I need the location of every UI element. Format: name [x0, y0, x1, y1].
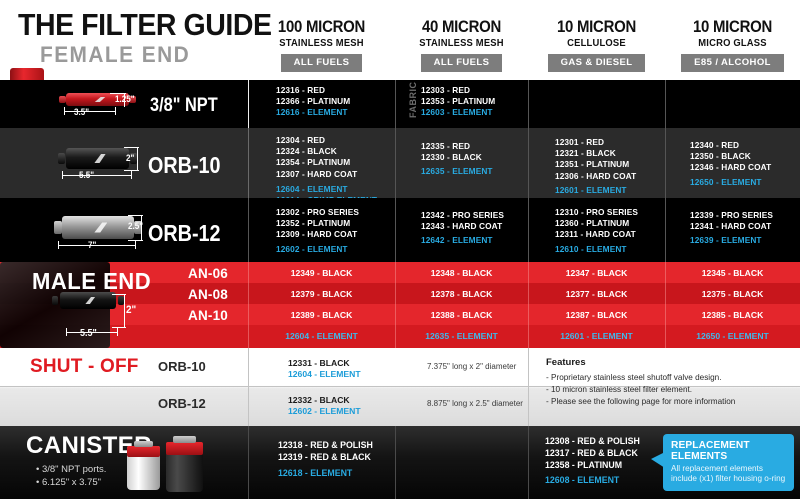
- cell-orb-10-40-micron: 12335 - RED 12330 - BLACK 12635 - ELEMEN…: [421, 128, 493, 198]
- canister-bullet: • 6.125" x 3.75": [36, 476, 101, 489]
- row-spec-label: 3/8" NPT: [150, 95, 218, 117]
- fabric-tag-label: FABRIC: [408, 82, 418, 119]
- table-row-orb-12: 7" 2.5" ORB-12 12302 - PRO SERIES 12352 …: [0, 198, 800, 262]
- canister-image-polish: [127, 446, 160, 490]
- filter-image-orb-12: [62, 216, 134, 239]
- column-fuel-badge: ALL FUELS: [281, 54, 363, 72]
- column-micron-label: 100 MICRON: [257, 18, 386, 35]
- dimension-tick: [115, 107, 116, 115]
- column-fuel-badge: E85 / ALCOHOL: [681, 54, 784, 72]
- row-spec-label-shutoff-orb-12: ORB-12: [158, 397, 206, 410]
- cell-an-08-100-micron: 12379 - BLACK: [248, 290, 395, 299]
- feature-item: - 10 micron stainless steel filter eleme…: [546, 384, 692, 395]
- cell-an-10-40-micron: 12388 - BLACK: [395, 311, 528, 320]
- column-fuel-badge: GAS & DIESEL: [548, 54, 646, 72]
- dimension-diameter-label: 2": [126, 304, 136, 316]
- column-header-40-micron: 40 MICRON STAINLESS MESH ALL FUELS: [395, 18, 528, 72]
- page-header: THE FILTER GUIDE FEMALE END 100 MICRON S…: [0, 0, 800, 80]
- filter-image-male-end: [60, 292, 116, 309]
- cell-orb-10-10-micron-micro-glass: 12340 - RED 12350 - BLACK 12346 - HARD C…: [690, 128, 771, 198]
- cell-orb-10-10-micron-cellulose: 12301 - RED 12321 - BLACK 12351 - PLATIN…: [555, 128, 636, 198]
- cell-an-06-10-micron-micro-glass: 12345 - BLACK: [665, 269, 800, 278]
- cell-an-06-10-micron-cellulose: 12347 - BLACK: [528, 269, 665, 278]
- column-header-10-micron-micro-glass: 10 MICRON MICRO GLASS E85 / ALCOHOL: [665, 18, 800, 72]
- canister-bullet: • 3/8" NPT ports.: [36, 463, 106, 476]
- cell-an-06-100-micron: 12349 - BLACK: [248, 269, 395, 278]
- features-title: Features: [546, 357, 586, 368]
- table-row-orb-10: 5.5" 2" ORB-10 12304 - RED 12324 - BLACK…: [0, 128, 800, 198]
- column-media-label: CELLULOSE: [532, 37, 661, 50]
- table-row-3-8-npt: 3.5" 1.25" 3/8" NPT 12316 - RED 12366 - …: [0, 80, 800, 128]
- replacement-elements-callout: REPLACEMENT ELEMENTS All replacement ele…: [663, 434, 794, 491]
- column-header-10-micron-cellulose: 10 MICRON CELLULOSE GAS & DIESEL: [528, 18, 665, 72]
- dimension-diameter-label: 2.5": [128, 221, 143, 231]
- cell-an-08-10-micron-micro-glass: 12375 - BLACK: [665, 290, 800, 299]
- cell-shutoff-orb-10-parts: 12331 - BLACK 12604 - ELEMENT: [288, 358, 361, 381]
- shutoff-section: SHUT - OFF ORB-10 ORB-12 12331 - BLACK 1…: [0, 348, 800, 426]
- callout-title: REPLACEMENT ELEMENTS: [671, 440, 787, 462]
- shutoff-orb-10-dimension: 7.375" long x 2" diameter: [427, 363, 516, 371]
- row-spec-label-an-08: AN-08: [188, 288, 228, 302]
- cell-canister-10-micron-cellulose: 12308 - RED & POLISH 12317 - RED & BLACK…: [545, 435, 640, 486]
- column-micron-label: 10 MICRON: [673, 18, 792, 35]
- cell-male-element-40-micron: 12635 - ELEMENT: [395, 332, 528, 341]
- dimension-tick: [64, 107, 65, 115]
- dimension-line-horizontal: [64, 111, 116, 112]
- cell-orb-12-100-micron: 12302 - PRO SERIES 12352 - PLATINUM 1230…: [276, 198, 359, 262]
- filter-guide-sheet: THE FILTER GUIDE FEMALE END 100 MICRON S…: [0, 0, 800, 499]
- cell-an-08-40-micron: 12378 - BLACK: [395, 290, 528, 299]
- dimension-length-label: 7": [88, 240, 96, 250]
- cell-3-8-npt-40-micron: 12303 - RED 12353 - PLATINUM 12603 - ELE…: [421, 80, 495, 128]
- cell-shutoff-orb-12-parts: 12332 - BLACK 12602 - ELEMENT: [288, 395, 361, 418]
- row-spec-label-shutoff-orb-10: ORB-10: [158, 360, 206, 373]
- dimension-diameter-label: 1.25": [115, 94, 135, 104]
- dimension-length-label: 3.5": [74, 107, 89, 117]
- row-spec-label: ORB-12: [148, 220, 221, 247]
- feature-item: - Please see the following page for more…: [546, 396, 735, 407]
- column-micron-label: 40 MICRON: [403, 18, 520, 35]
- female-end-section: 3.5" 1.25" 3/8" NPT 12316 - RED 12366 - …: [0, 80, 800, 262]
- cell-orb-12-10-micron-cellulose: 12310 - PRO SERIES 12360 - PLATINUM 1231…: [555, 198, 638, 262]
- column-fuel-badge: ALL FUELS: [421, 54, 503, 72]
- dimension-diameter-label: 2": [126, 153, 134, 163]
- page-subtitle: FEMALE END: [40, 44, 190, 66]
- page-title: THE FILTER GUIDE: [18, 9, 272, 40]
- feature-item: - Proprietary stainless steel shutoff va…: [546, 372, 722, 383]
- row-spec-label-an-06: AN-06: [188, 267, 228, 281]
- cell-canister-100-micron: 12318 - RED & POLISH 12319 - RED & BLACK…: [278, 439, 373, 479]
- column-media-label: MICRO GLASS: [669, 37, 796, 50]
- cell-an-10-10-micron-cellulose: 12387 - BLACK: [528, 311, 665, 320]
- male-end-title: MALE END: [32, 270, 151, 293]
- column-media-label: STAINLESS MESH: [252, 37, 390, 50]
- shutoff-orb-12-dimension: 8.875" long x 2.5" diameter: [427, 400, 523, 408]
- filter-image-orb-10: [66, 148, 129, 169]
- column-media-label: STAINLESS MESH: [399, 37, 524, 50]
- column-micron-label: 10 MICRON: [536, 18, 657, 35]
- cell-male-element-100-micron: 12604 - ELEMENT: [248, 332, 395, 341]
- cell-orb-10-100-micron: 12304 - RED 12324 - BLACK 12354 - PLATIN…: [276, 128, 377, 198]
- cell-an-06-40-micron: 12348 - BLACK: [395, 269, 528, 278]
- canister-image-black: [166, 442, 203, 492]
- cell-an-10-10-micron-micro-glass: 12385 - BLACK: [665, 311, 800, 320]
- cell-an-10-100-micron: 12389 - BLACK: [248, 311, 395, 320]
- cell-male-element-10-micron-cellulose: 12601 - ELEMENT: [528, 332, 665, 341]
- dimension-length-label: 5.5": [79, 170, 94, 180]
- male-end-section: 5.5" 2" MALE END AN-06 AN-08 AN-10 12349…: [0, 262, 800, 348]
- shutoff-title: SHUT - OFF: [30, 357, 139, 376]
- cell-orb-12-10-micron-micro-glass: 12339 - PRO SERIES 12341 - HARD COAT 126…: [690, 198, 773, 262]
- cell-3-8-npt-100-micron: 12316 - RED 12366 - PLATINUM 12616 - ELE…: [276, 80, 350, 128]
- cell-male-element-10-micron-micro-glass: 12650 - ELEMENT: [665, 332, 800, 341]
- row-spec-label: ORB-10: [148, 152, 221, 179]
- dimension-length-label: 5.5": [80, 328, 97, 339]
- column-header-100-micron: 100 MICRON STAINLESS MESH ALL FUELS: [248, 18, 395, 72]
- callout-body: All replacement elements include (x1) fi…: [671, 464, 787, 484]
- cell-orb-12-40-micron: 12342 - PRO SERIES 12343 - HARD COAT 126…: [421, 198, 504, 262]
- row-spec-label-an-10: AN-10: [188, 309, 228, 323]
- cell-an-08-10-micron-cellulose: 12377 - BLACK: [528, 290, 665, 299]
